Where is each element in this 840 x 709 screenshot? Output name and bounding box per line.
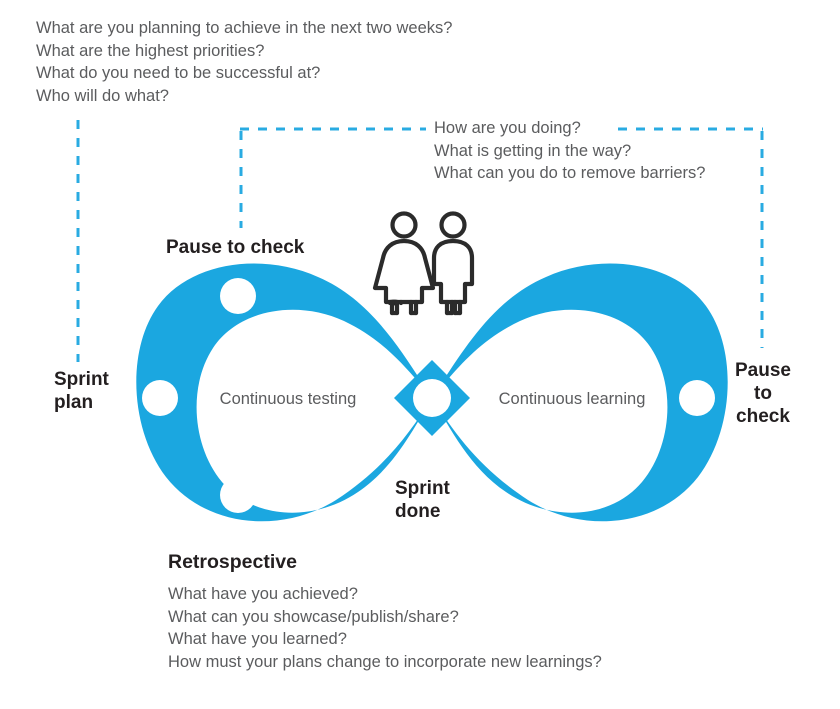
top-question-line-1: What are you planning to achieve in the … (36, 17, 452, 40)
label-sprint-done-line2: done (395, 500, 450, 523)
mid-question-line-2: What is getting in the way? (434, 140, 705, 163)
top-question-line-3: What do you need to be successful at? (36, 62, 452, 85)
label-sprint-done: Sprint done (395, 477, 450, 523)
mid-question-line-1: How are you doing? (434, 117, 705, 140)
label-sprint-plan-line1: Sprint (54, 368, 109, 391)
label-pause-to-check-left: Pause to check (166, 236, 304, 259)
label-pause-to-check-right: Pause to check (735, 359, 791, 428)
top-question-block: What are you planning to achieve in the … (36, 17, 452, 107)
label-sprint-plan: Sprint plan (54, 368, 109, 414)
retrospective-heading: Retrospective (168, 551, 297, 574)
label-pause-right-line1: Pause (735, 359, 791, 382)
top-question-line-4: Who will do what? (36, 85, 452, 108)
label-pause-right-line3: check (735, 405, 791, 428)
person-female-icon (375, 214, 433, 314)
retrospective-line-3: What have you learned? (168, 628, 602, 651)
label-pause-right-line2: to (735, 382, 791, 405)
mid-question-block: How are you doing? What is getting in th… (434, 117, 705, 185)
retrospective-question-block: What have you achieved? What can you sho… (168, 583, 602, 673)
label-sprint-done-line1: Sprint (395, 477, 450, 500)
person-male-icon (434, 214, 472, 314)
top-question-line-2: What are the highest priorities? (36, 40, 452, 63)
retrospective-line-1: What have you achieved? (168, 583, 602, 606)
diagram-canvas: Continuous testing Continuous learning (0, 0, 840, 709)
retrospective-line-2: What can you showcase/publish/share? (168, 606, 602, 629)
mid-question-line-3: What can you do to remove barriers? (434, 162, 705, 185)
retrospective-line-4: How must your plans change to incorporat… (168, 651, 602, 674)
label-sprint-plan-line2: plan (54, 391, 109, 414)
